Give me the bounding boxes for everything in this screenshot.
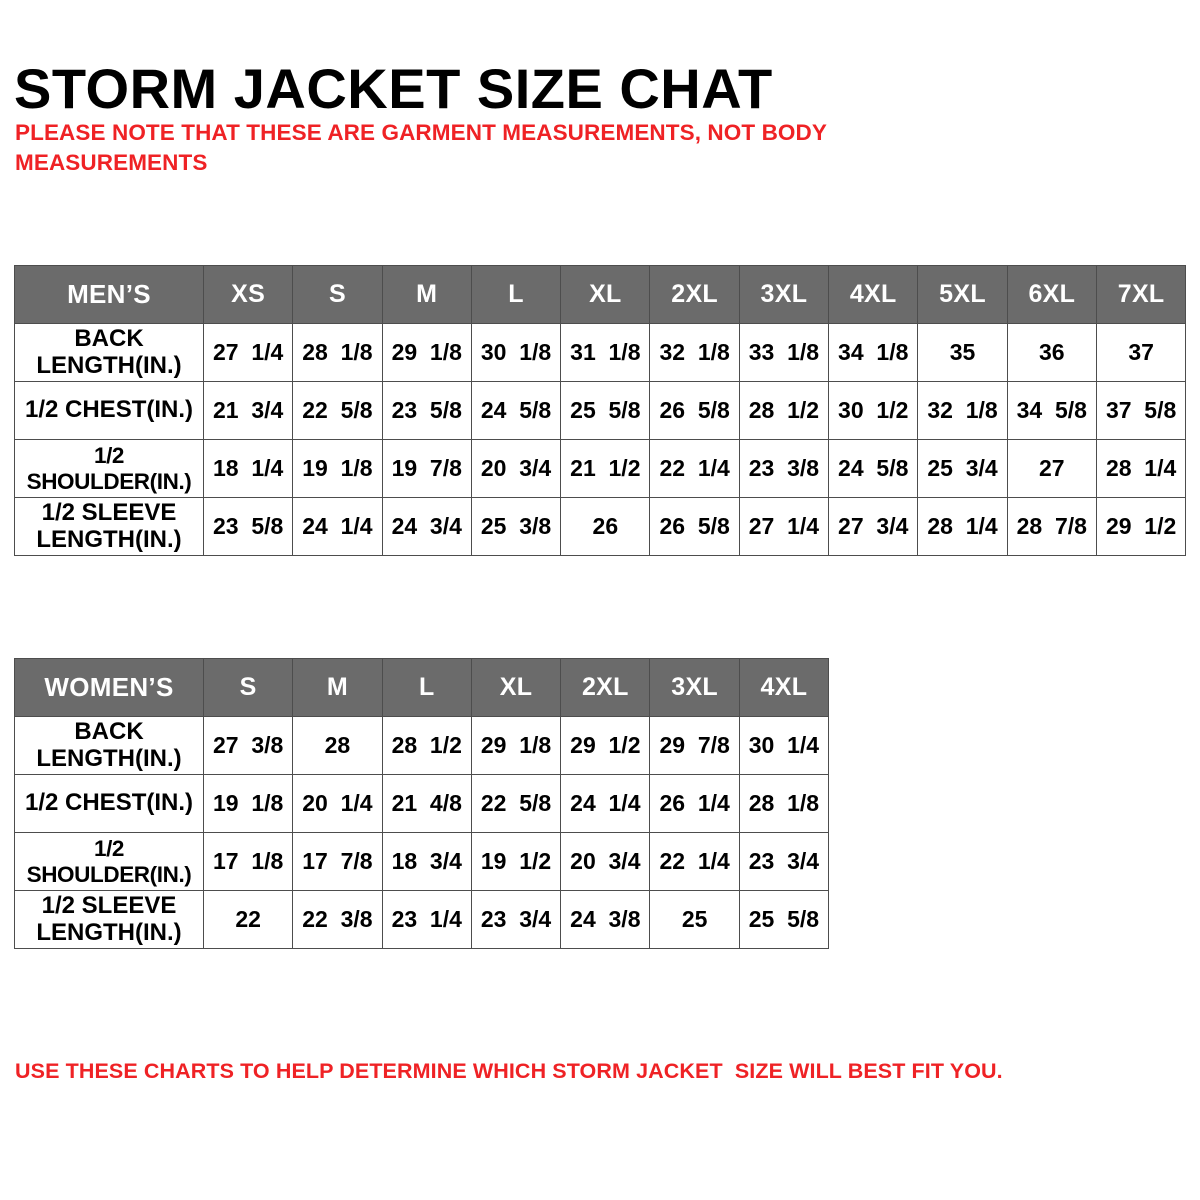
womens-cell-r1-c3: 22 5/8 [471,775,560,833]
mens-cell-r3-c1: 24 1/4 [293,498,382,556]
womens-size-header-2xl: 2XL [561,659,650,717]
mens-cell-r2-c3: 20 3/4 [471,440,560,498]
womens-table-body: BACK LENGTH(IN.)27 3/82828 1/229 1/829 1… [15,717,829,949]
womens-cell-r1-c0: 19 1/8 [204,775,293,833]
mens-cell-r1-c3: 24 5/8 [471,382,560,440]
mens-size-header-7xl: 7XL [1096,266,1185,324]
mens-row-label: BACK LENGTH(IN.) [15,324,204,382]
mens-size-header-xs: XS [204,266,293,324]
womens-cell-r1-c4: 24 1/4 [561,775,650,833]
size-help-note: USE THESE CHARTS TO HELP DETERMINE WHICH… [15,1058,1175,1086]
mens-cell-r3-c9: 28 7/8 [1007,498,1096,556]
womens-corner-header: WOMEN’S [15,659,204,717]
table-row: 1/2 SHOULDER(IN.)17 1/817 7/818 3/419 1/… [15,833,829,891]
garment-measurement-note: PLEASE NOTE THAT THESE ARE GARMENT MEASU… [15,118,975,178]
mens-size-header-6xl: 6XL [1007,266,1096,324]
mens-cell-r0-c7: 34 1/8 [829,324,918,382]
womens-cell-r2-c2: 18 3/4 [382,833,471,891]
mens-cell-r1-c5: 26 5/8 [650,382,739,440]
mens-header-row: MEN’SXSSMLXL2XL3XL4XL5XL6XL7XL [15,266,1186,324]
mens-cell-r1-c2: 23 5/8 [382,382,471,440]
womens-cell-r0-c3: 29 1/8 [471,717,560,775]
womens-cell-r0-c0: 27 3/8 [204,717,293,775]
mens-corner-header: MEN’S [15,266,204,324]
womens-cell-r0-c5: 29 7/8 [650,717,739,775]
womens-cell-r1-c2: 21 4/8 [382,775,471,833]
mens-cell-r2-c6: 23 3/8 [739,440,828,498]
mens-table-body: BACK LENGTH(IN.)27 1/428 1/829 1/830 1/8… [15,324,1186,556]
mens-cell-r3-c2: 24 3/4 [382,498,471,556]
womens-size-header-3xl: 3XL [650,659,739,717]
womens-cell-r2-c3: 19 1/2 [471,833,560,891]
mens-cell-r0-c2: 29 1/8 [382,324,471,382]
mens-cell-r3-c6: 27 1/4 [739,498,828,556]
mens-cell-r2-c9: 27 [1007,440,1096,498]
womens-size-header-4xl: 4XL [739,659,828,717]
mens-cell-r2-c4: 21 1/2 [561,440,650,498]
womens-cell-r3-c2: 23 1/4 [382,891,471,949]
womens-cell-r2-c0: 17 1/8 [204,833,293,891]
mens-size-header-xl: XL [561,266,650,324]
womens-cell-r3-c1: 22 3/8 [293,891,382,949]
mens-cell-r1-c0: 21 3/4 [204,382,293,440]
mens-size-header-l: L [471,266,560,324]
womens-cell-r1-c6: 28 1/8 [739,775,828,833]
womens-header-row: WOMEN’SSMLXL2XL3XL4XL [15,659,829,717]
mens-cell-r1-c10: 37 5/8 [1096,382,1185,440]
mens-size-header-m: M [382,266,471,324]
mens-cell-r2-c7: 24 5/8 [829,440,918,498]
table-row: 1/2 CHEST(IN.)21 3/422 5/823 5/824 5/825… [15,382,1186,440]
womens-cell-r1-c1: 20 1/4 [293,775,382,833]
mens-cell-r0-c9: 36 [1007,324,1096,382]
womens-row-label: 1/2 SLEEVE LENGTH(IN.) [15,891,204,949]
table-row: 1/2 CHEST(IN.)19 1/820 1/421 4/822 5/824… [15,775,829,833]
mens-cell-r2-c5: 22 1/4 [650,440,739,498]
mens-cell-r1-c1: 22 5/8 [293,382,382,440]
womens-size-header-s: S [204,659,293,717]
womens-row-label: BACK LENGTH(IN.) [15,717,204,775]
mens-cell-r3-c8: 28 1/4 [918,498,1007,556]
womens-row-label: 1/2 SHOULDER(IN.) [15,833,204,891]
mens-table-head: MEN’SXSSMLXL2XL3XL4XL5XL6XL7XL [15,266,1186,324]
mens-cell-r2-c2: 19 7/8 [382,440,471,498]
mens-cell-r0-c1: 28 1/8 [293,324,382,382]
mens-cell-r0-c8: 35 [918,324,1007,382]
mens-cell-r3-c0: 23 5/8 [204,498,293,556]
womens-cell-r2-c6: 23 3/4 [739,833,828,891]
mens-cell-r1-c4: 25 5/8 [561,382,650,440]
table-row: BACK LENGTH(IN.)27 1/428 1/829 1/830 1/8… [15,324,1186,382]
mens-size-header-2xl: 2XL [650,266,739,324]
page-title: STORM JACKET SIZE CHAT [14,60,773,119]
mens-size-header-s: S [293,266,382,324]
mens-cell-r3-c5: 26 5/8 [650,498,739,556]
mens-cell-r2-c10: 28 1/4 [1096,440,1185,498]
womens-cell-r0-c6: 30 1/4 [739,717,828,775]
mens-cell-r1-c6: 28 1/2 [739,382,828,440]
mens-cell-r3-c4: 26 [561,498,650,556]
womens-cell-r3-c3: 23 3/4 [471,891,560,949]
womens-size-header-m: M [293,659,382,717]
table-row: 1/2 SHOULDER(IN.)18 1/419 1/819 7/820 3/… [15,440,1186,498]
mens-row-label: 1/2 SLEEVE LENGTH(IN.) [15,498,204,556]
table-row: 1/2 SLEEVE LENGTH(IN.)23 5/824 1/424 3/4… [15,498,1186,556]
womens-size-header-xl: XL [471,659,560,717]
mens-cell-r1-c8: 32 1/8 [918,382,1007,440]
mens-cell-r0-c5: 32 1/8 [650,324,739,382]
mens-cell-r2-c8: 25 3/4 [918,440,1007,498]
mens-cell-r3-c10: 29 1/2 [1096,498,1185,556]
womens-cell-r2-c1: 17 7/8 [293,833,382,891]
womens-cell-r3-c0: 22 [204,891,293,949]
mens-size-header-3xl: 3XL [739,266,828,324]
mens-row-label: 1/2 CHEST(IN.) [15,382,204,440]
womens-cell-r3-c4: 24 3/8 [561,891,650,949]
womens-table-head: WOMEN’SSMLXL2XL3XL4XL [15,659,829,717]
table-row: 1/2 SLEEVE LENGTH(IN.)2222 3/823 1/423 3… [15,891,829,949]
mens-cell-r0-c3: 30 1/8 [471,324,560,382]
mens-cell-r0-c10: 37 [1096,324,1185,382]
mens-cell-r1-c7: 30 1/2 [829,382,918,440]
womens-cell-r0-c2: 28 1/2 [382,717,471,775]
table-row: BACK LENGTH(IN.)27 3/82828 1/229 1/829 1… [15,717,829,775]
womens-size-header-l: L [382,659,471,717]
womens-cell-r3-c5: 25 [650,891,739,949]
womens-cell-r1-c5: 26 1/4 [650,775,739,833]
womens-row-label: 1/2 CHEST(IN.) [15,775,204,833]
womens-cell-r2-c5: 22 1/4 [650,833,739,891]
mens-size-table: MEN’SXSSMLXL2XL3XL4XL5XL6XL7XL BACK LENG… [14,265,1186,556]
mens-cell-r0-c0: 27 1/4 [204,324,293,382]
mens-cell-r3-c3: 25 3/8 [471,498,560,556]
womens-cell-r2-c4: 20 3/4 [561,833,650,891]
mens-size-header-5xl: 5XL [918,266,1007,324]
mens-cell-r3-c7: 27 3/4 [829,498,918,556]
mens-cell-r2-c1: 19 1/8 [293,440,382,498]
womens-cell-r0-c1: 28 [293,717,382,775]
womens-cell-r3-c6: 25 5/8 [739,891,828,949]
mens-cell-r0-c6: 33 1/8 [739,324,828,382]
mens-cell-r0-c4: 31 1/8 [561,324,650,382]
mens-size-header-4xl: 4XL [829,266,918,324]
mens-row-label: 1/2 SHOULDER(IN.) [15,440,204,498]
womens-size-table: WOMEN’SSMLXL2XL3XL4XL BACK LENGTH(IN.)27… [14,658,829,949]
mens-cell-r2-c0: 18 1/4 [204,440,293,498]
womens-cell-r0-c4: 29 1/2 [561,717,650,775]
mens-cell-r1-c9: 34 5/8 [1007,382,1096,440]
